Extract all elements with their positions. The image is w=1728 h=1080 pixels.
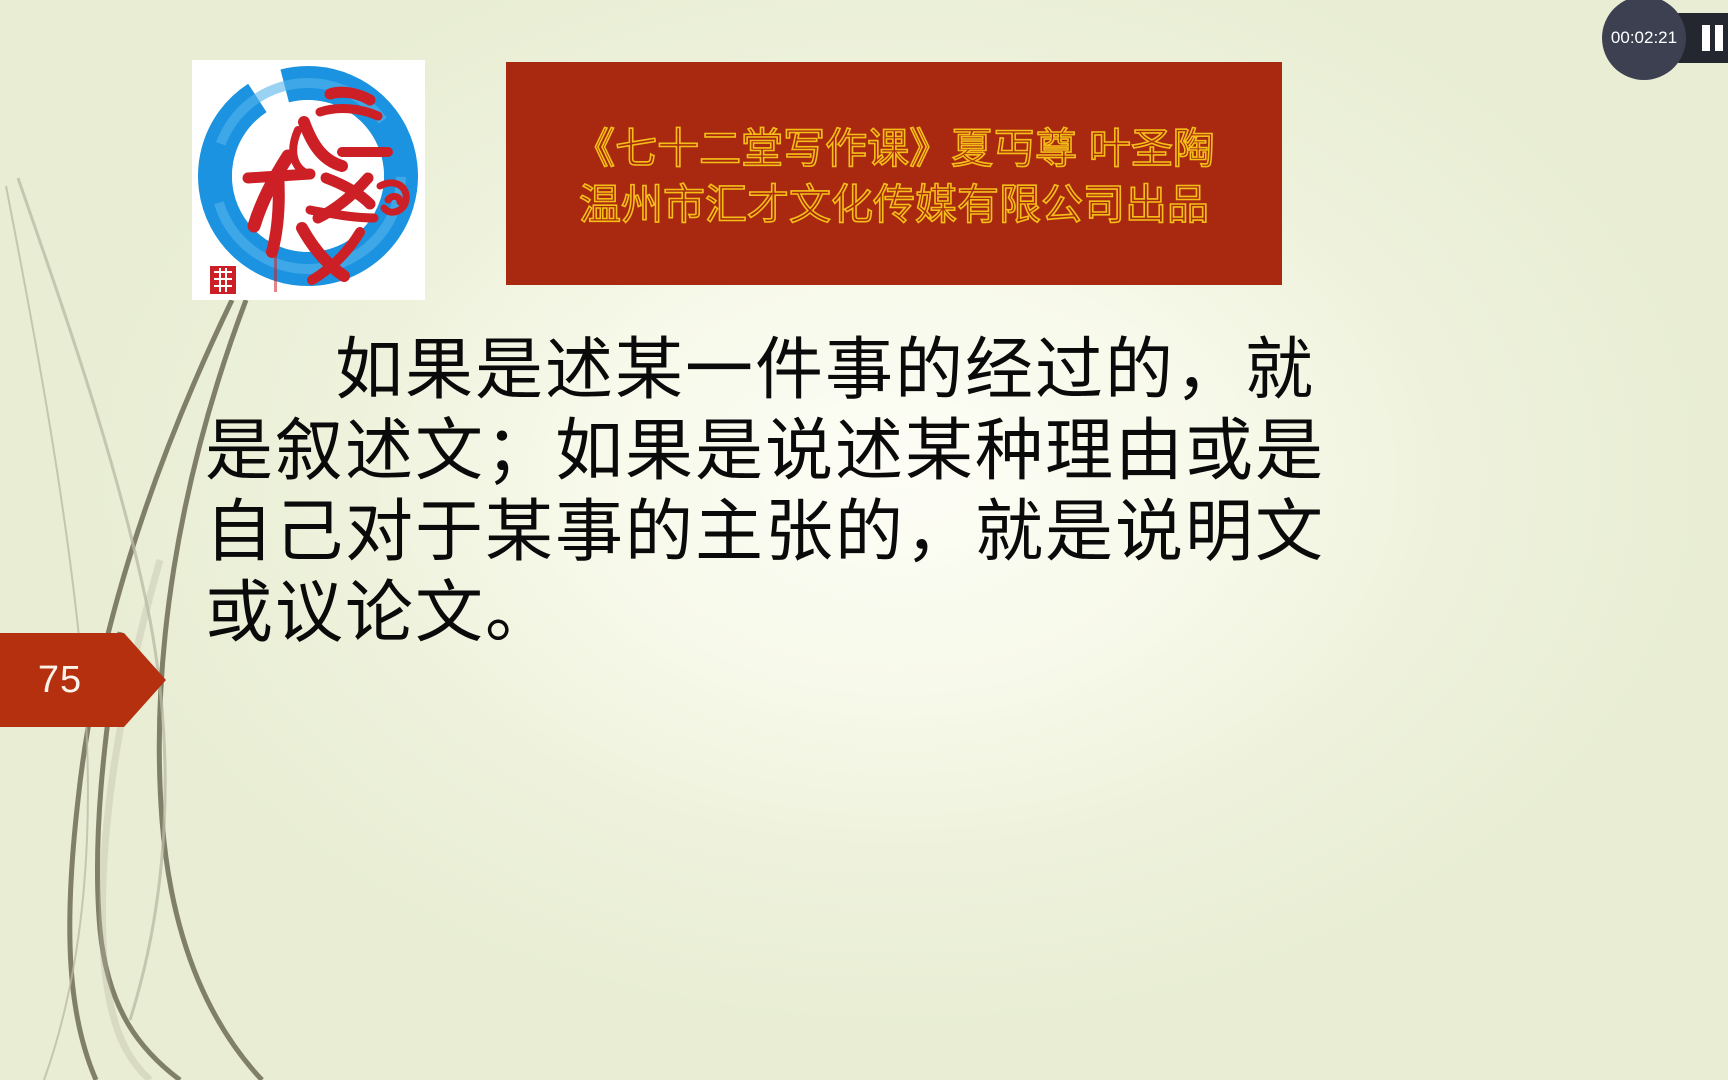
elapsed-timer[interactable]: 00:02:21 [1602,0,1686,80]
playback-overlay[interactable]: 00:02:21 [1602,5,1728,71]
title-banner: 《七十二堂写作课》夏丏尊 叶圣陶 温州市汇才文化传媒有限公司出品 [506,62,1282,285]
pause-icon[interactable] [1702,23,1728,53]
company-logo [192,60,425,300]
body-line-3: 自己对于某事的主张的，就是说明文 [205,492,1275,573]
body-line-2: 是叙述文；如果是说述某种理由或是 [205,411,1275,492]
slide-canvas: 《七十二堂写作课》夏丏尊 叶圣陶 温州市汇才文化传媒有限公司出品 如果是述某一件… [0,0,1728,1080]
slide-body-text: 如果是述某一件事的经过的，就 是叙述文；如果是说述某种理由或是 自己对于某事的主… [205,330,1275,654]
banner-line-1: 《七十二堂写作课》夏丏尊 叶圣陶 [573,121,1215,177]
logo-artwork [192,60,425,300]
body-line-4: 或议论文。 [205,573,1275,654]
body-line-1: 如果是述某一件事的经过的，就 [205,330,1275,411]
page-number-badge: 75 [0,633,166,727]
banner-line-2: 温州市汇才文化传媒有限公司出品 [579,177,1209,233]
page-number: 75 [0,633,124,727]
